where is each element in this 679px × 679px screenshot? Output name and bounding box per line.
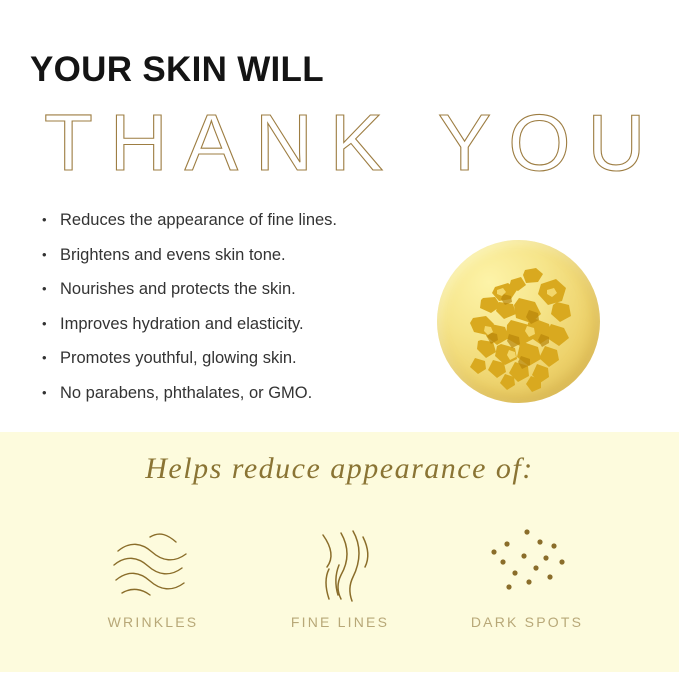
wavy-lines-icon bbox=[108, 525, 198, 603]
feature-dark-spots: DARK SPOTS bbox=[434, 525, 620, 630]
banner-heading: Helps reduce appearance of: bbox=[0, 452, 679, 486]
top-section: YOUR SKIN WILL THANK YOU Reduces the app… bbox=[0, 0, 679, 432]
list-item: Improves hydration and elasticity. bbox=[42, 316, 422, 333]
benefits-list: Reduces the appearance of fine lines. Br… bbox=[42, 212, 422, 419]
scattered-dots-icon bbox=[482, 525, 572, 603]
feature-wrinkles: WRINKLES bbox=[60, 525, 246, 630]
promo-graphic: YOUR SKIN WILL THANK YOU Reduces the app… bbox=[0, 0, 679, 679]
vertical-curves-icon bbox=[295, 525, 385, 603]
list-item: No parabens, phthalates, or GMO. bbox=[42, 385, 422, 402]
headline-primary: YOUR SKIN WILL bbox=[30, 52, 324, 87]
feature-label: FINE LINES bbox=[291, 614, 389, 630]
list-item: Nourishes and protects the skin. bbox=[42, 281, 422, 298]
feature-fine-lines: FINE LINES bbox=[247, 525, 433, 630]
product-image bbox=[437, 240, 600, 403]
feature-label: DARK SPOTS bbox=[471, 614, 583, 630]
feature-row: WRINKLES FINE LINES bbox=[60, 525, 620, 640]
feature-label: WRINKLES bbox=[108, 614, 199, 630]
list-item: Reduces the appearance of fine lines. bbox=[42, 212, 422, 229]
bottom-edge-strip bbox=[0, 672, 679, 679]
gold-flakes-icon bbox=[437, 240, 600, 403]
gold-cream-circle bbox=[437, 240, 600, 403]
list-item: Promotes youthful, glowing skin. bbox=[42, 350, 422, 367]
headline-secondary: THANK YOU bbox=[44, 101, 644, 185]
list-item: Brightens and evens skin tone. bbox=[42, 247, 422, 264]
